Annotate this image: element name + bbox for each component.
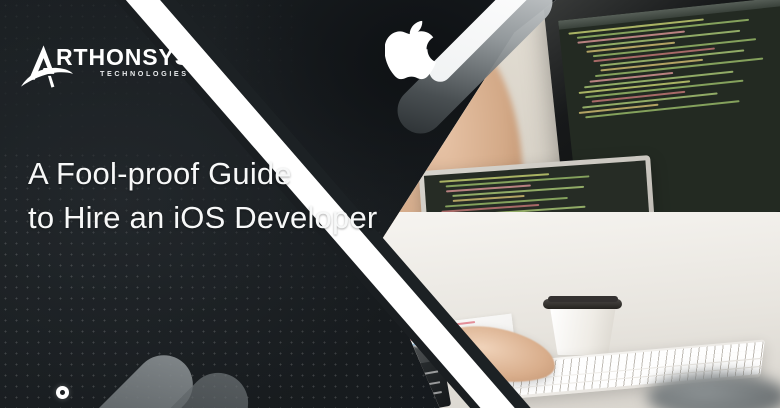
- brand-name: RTHONSYS: [56, 46, 191, 69]
- apple-logo-icon: [385, 20, 437, 82]
- page-title: A Fool-proof Guide to Hire an iOS Develo…: [28, 152, 377, 240]
- ios-developer-hiring-banner: RTHONSYS TECHNOLOGIES A Fool-proof Guide…: [0, 0, 780, 408]
- cup-lid-top: [548, 296, 617, 301]
- headline-line-2: to Hire an iOS Developer: [28, 196, 377, 240]
- brand-logo[interactable]: RTHONSYS TECHNOLOGIES: [20, 38, 170, 94]
- brand-tagline: TECHNOLOGIES: [100, 70, 189, 77]
- headline-line-1: A Fool-proof Guide: [28, 152, 377, 196]
- coffee-cup: [543, 296, 622, 355]
- cup-body: [550, 306, 616, 355]
- decor-ring-dot: [56, 386, 69, 399]
- desk-surface: [365, 212, 780, 408]
